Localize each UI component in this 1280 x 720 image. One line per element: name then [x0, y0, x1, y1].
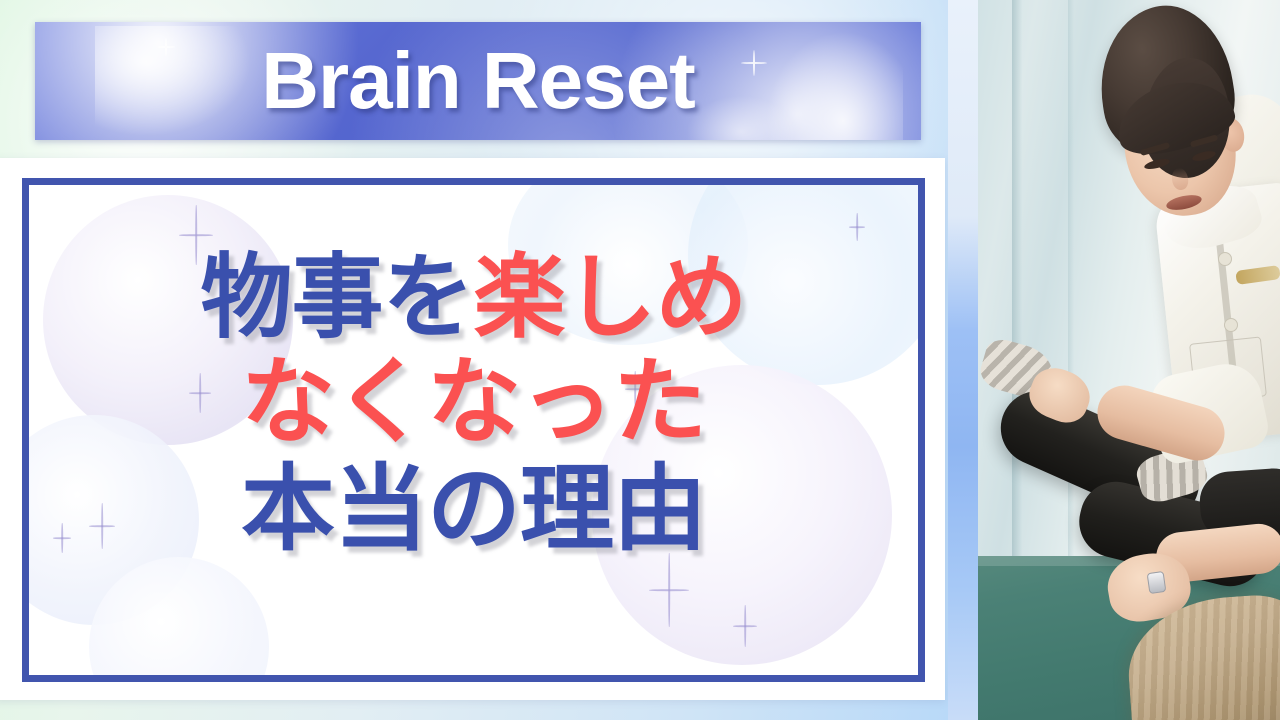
photo-wall-seam-1	[1012, 0, 1022, 600]
banner-sparkle-left	[95, 26, 265, 140]
headline-card: 物事を楽しめ なくなった 本当の理由	[0, 158, 945, 700]
headline-line-2: なくなった	[29, 353, 918, 453]
treatment-photo	[948, 0, 1280, 720]
thumbnail-canvas: Brain Reset 物事を楽しめ	[0, 0, 1280, 720]
headline-text: 物事を楽しめ なくなった 本当の理由	[29, 249, 918, 560]
photo-uniform-button-2	[1224, 318, 1238, 332]
photo-wedding-ring	[1147, 571, 1167, 594]
decor-sparkle-7	[733, 605, 757, 647]
decor-sparkle-8	[849, 213, 865, 241]
left-content-column: Brain Reset 物事を楽しめ	[0, 0, 948, 720]
photo-uniform-button-1	[1218, 252, 1232, 266]
headline-line-3-blue: 本当の理由	[241, 455, 706, 564]
banner-sparkle-lower-right	[681, 92, 801, 140]
brain-reset-banner: Brain Reset	[35, 22, 921, 140]
photo-left-blue-strip	[948, 0, 978, 720]
banner-title: Brain Reset	[261, 41, 695, 121]
headline-line-3: 本当の理由	[29, 460, 918, 560]
headline-line-1-red: 楽しめ	[474, 244, 747, 351]
banner-star-small-icon	[157, 38, 175, 56]
headline-line-1-blue: 物事を	[200, 244, 473, 351]
headline-line-2-red: なくなった	[241, 348, 706, 457]
headline-line-1: 物事を楽しめ	[29, 249, 918, 347]
decor-bubble-3	[89, 557, 269, 682]
banner-star-icon	[741, 50, 767, 76]
headline-card-border: 物事を楽しめ なくなった 本当の理由	[22, 178, 925, 682]
banner-sparkle-right	[753, 22, 903, 140]
